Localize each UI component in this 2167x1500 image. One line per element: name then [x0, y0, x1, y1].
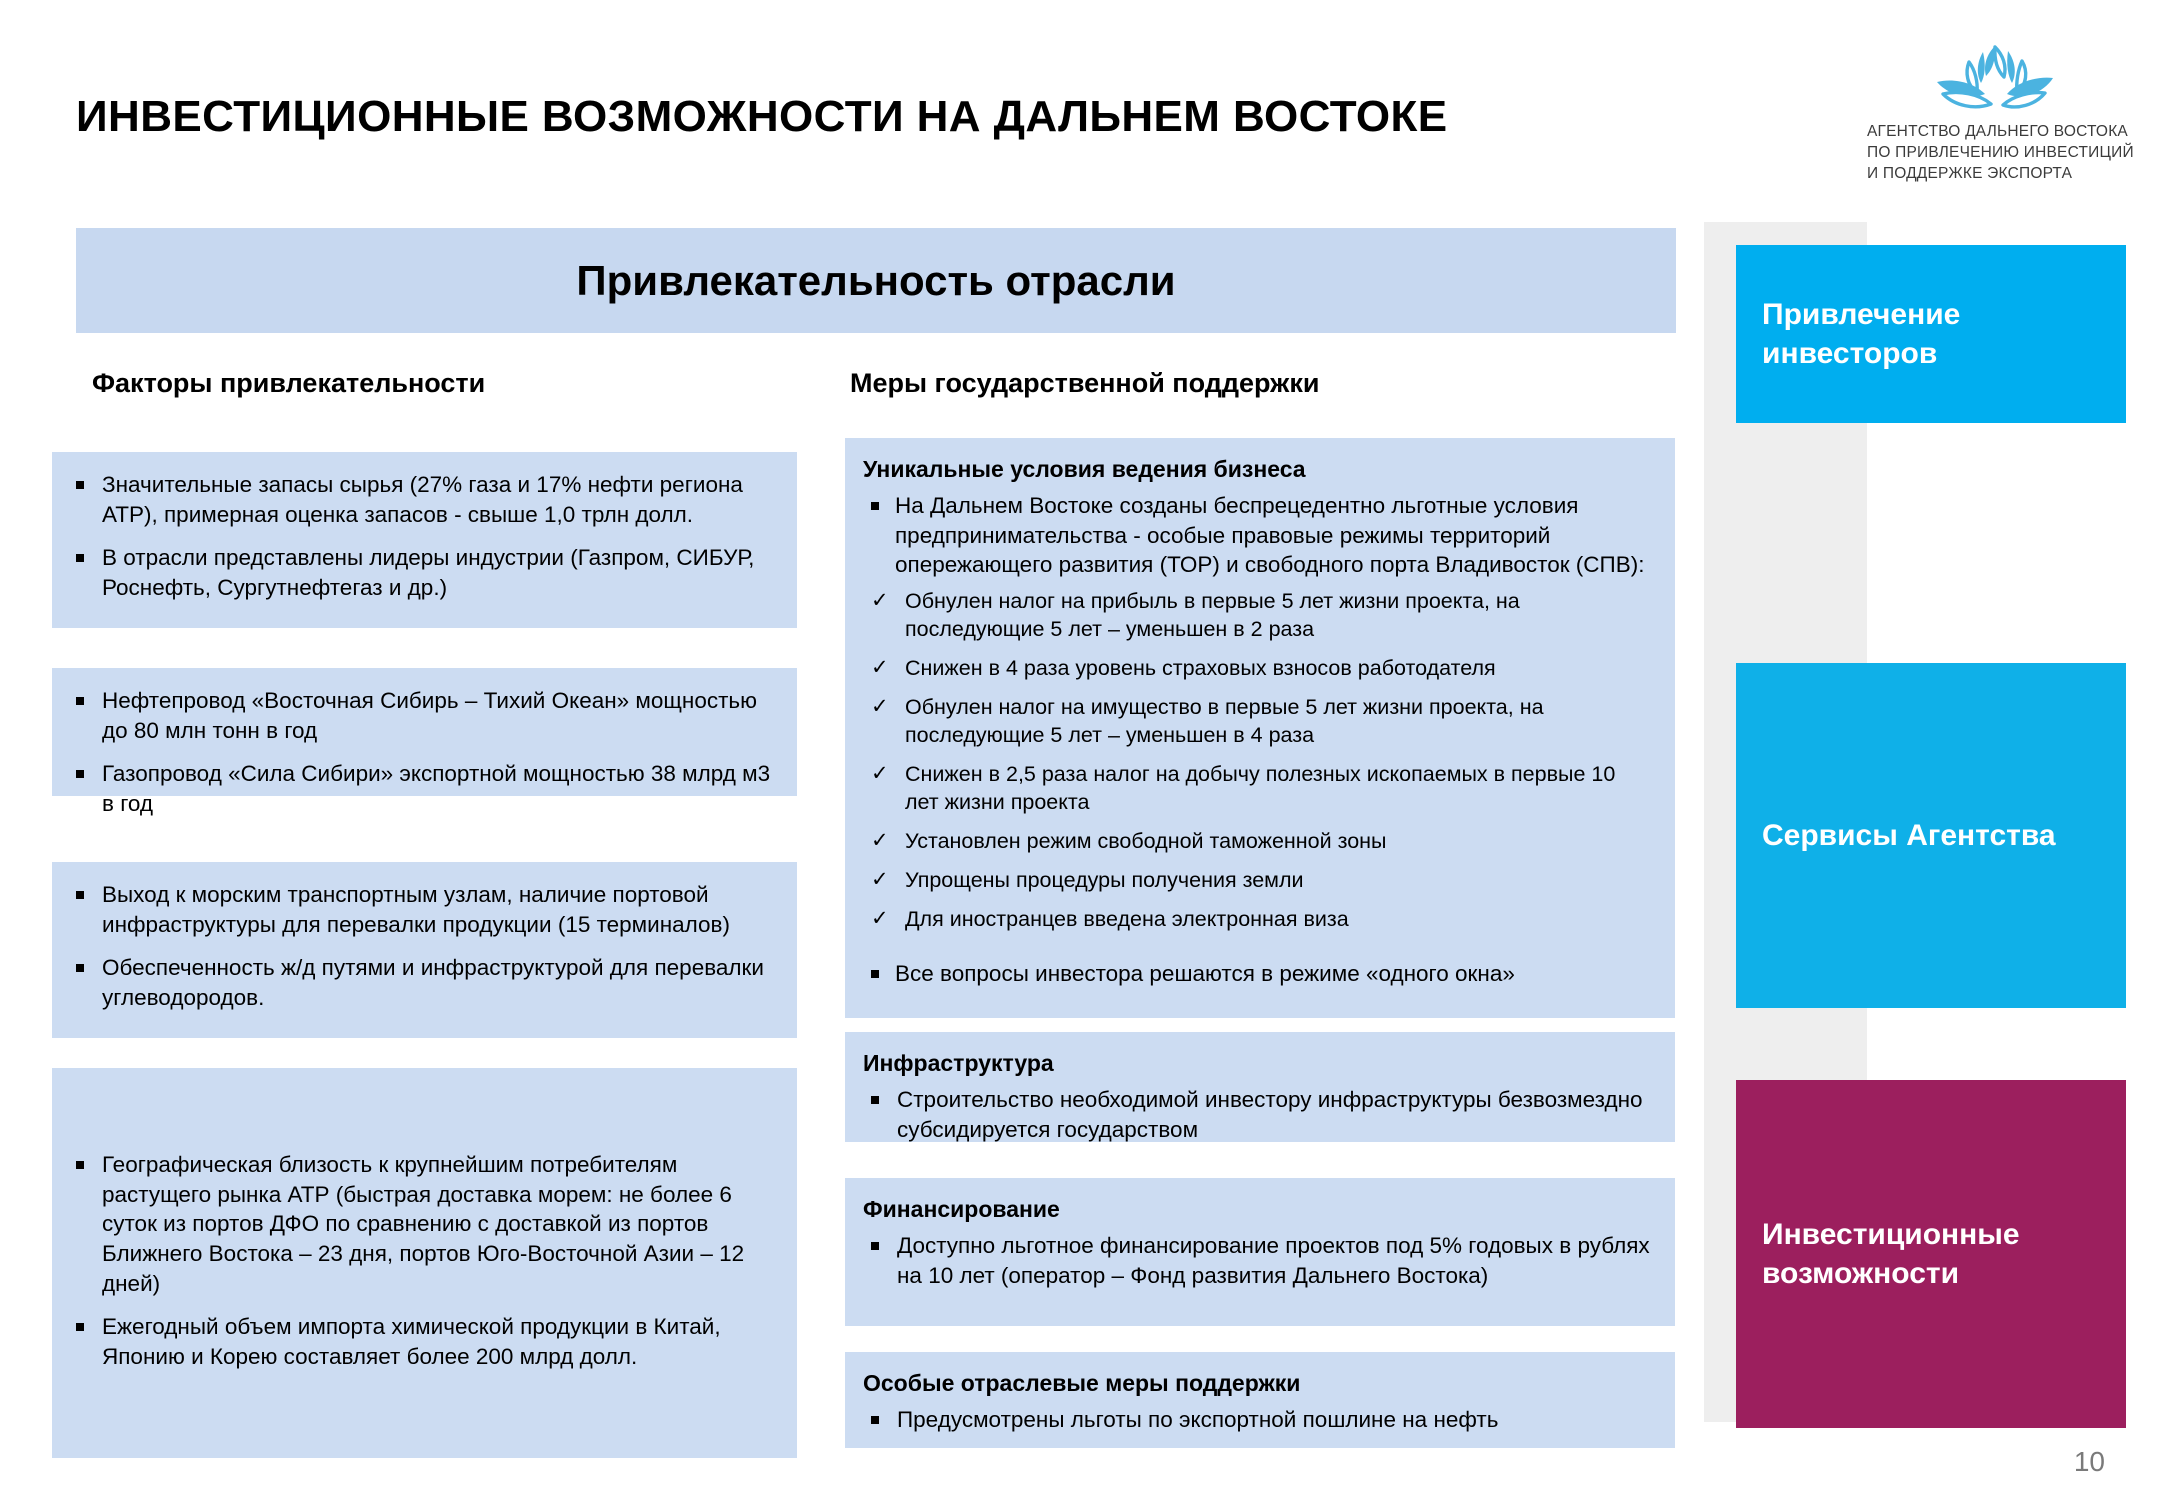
list-item: ✓Установлен режим свободной таможенной з… — [863, 828, 1653, 856]
list-item-text: Обнулен налог на имущество в первые 5 ле… — [905, 695, 1544, 747]
bullet-list: Предусмотрены льготы по экспортной пошли… — [863, 1405, 1653, 1435]
bullet-list: Выход к морским транспортным узлам, нали… — [68, 880, 773, 1013]
mid-column-heading: Меры государственной поддержки — [850, 368, 1319, 399]
bullet-square-icon — [871, 1242, 879, 1250]
card-title: Уникальные условия ведения бизнеса — [863, 456, 1653, 483]
card-financing: Финансирование Доступно льготное финанси… — [845, 1178, 1675, 1326]
check-icon: ✓ — [871, 654, 889, 681]
bullet-square-icon — [76, 891, 84, 899]
rail-tile-label: Инвестиционные возможности — [1762, 1215, 2100, 1293]
list-item-text: Для иностранцев введена электронная виза — [905, 907, 1349, 931]
lotus-bird-icon — [1925, 38, 2065, 116]
bullet-list: Географическая близость к крупнейшим пот… — [68, 1150, 773, 1372]
list-item: Выход к морским транспортным узлам, нали… — [68, 880, 773, 939]
list-item-text: Газопровод «Сила Сибири» экспортной мощн… — [102, 761, 770, 816]
bullet-square-icon — [871, 1416, 879, 1424]
bullet-square-icon — [871, 970, 879, 978]
card-sector-support: Особые отраслевые меры поддержки Предусм… — [845, 1352, 1675, 1448]
list-item-text: Обнулен налог на прибыль в первые 5 лет … — [905, 589, 1520, 641]
card-infrastructure: Инфраструктура Строительство необходимой… — [845, 1032, 1675, 1142]
list-item-text: Установлен режим свободной таможенной зо… — [905, 829, 1387, 853]
list-item: ✓Обнулен налог на прибыль в первые 5 лет… — [863, 588, 1653, 644]
bullet-square-icon — [76, 964, 84, 972]
card-geography: Географическая близость к крупнейшим пот… — [52, 1068, 797, 1458]
bullet-square-icon — [76, 1161, 84, 1169]
bullet-square-icon — [76, 1323, 84, 1331]
check-icon: ✓ — [871, 587, 889, 614]
list-item: ✓Упрощены процедуры получения земли — [863, 867, 1653, 895]
list-item-text: Выход к морским транспортным узлам, нали… — [102, 882, 730, 937]
list-item-text: Снижен в 4 раза уровень страховых взносо… — [905, 656, 1496, 680]
card-lead-text: На Дальнем Востоке созданы беспрецедентн… — [895, 493, 1644, 577]
list-item: ✓Обнулен налог на имущество в первые 5 л… — [863, 694, 1653, 750]
bullet-list: Строительство необходимой инвестору инфр… — [863, 1085, 1653, 1144]
check-icon: ✓ — [871, 866, 889, 893]
list-item: ✓Снижен в 2,5 раза налог на добычу полез… — [863, 761, 1653, 817]
check-icon: ✓ — [871, 905, 889, 932]
card-title: Инфраструктура — [863, 1050, 1653, 1077]
list-item-text: Доступно льготное финансирование проекто… — [897, 1233, 1650, 1288]
card-lead-bullet: На Дальнем Востоке созданы беспрецедентн… — [863, 491, 1653, 580]
card-resources: Значительные запасы сырья (27% газа и 17… — [52, 452, 797, 628]
card-tail-text: Все вопросы инвестора решаются в режиме … — [895, 961, 1515, 986]
bullet-list: Нефтепровод «Восточная Сибирь – Тихий Ок… — [68, 686, 773, 819]
list-item: Предусмотрены льготы по экспортной пошли… — [863, 1405, 1653, 1435]
card-title: Финансирование — [863, 1196, 1653, 1223]
list-item-text: Ежегодный объем импорта химической проду… — [102, 1314, 721, 1369]
agency-logo: АГЕНТСТВО ДАЛЬНЕГО ВОСТОКА ПО ПРИВЛЕЧЕНИ… — [1845, 38, 2145, 184]
list-item-text: Обеспеченность ж/д путями и инфраструкту… — [102, 955, 764, 1010]
bullet-square-icon — [76, 697, 84, 705]
rail-tile-services[interactable]: Сервисы Агентства — [1736, 663, 2126, 1008]
bullet-square-icon — [76, 481, 84, 489]
list-item: Значительные запасы сырья (27% газа и 17… — [68, 470, 773, 529]
list-item-text: Снижен в 2,5 раза налог на добычу полезн… — [905, 762, 1615, 814]
page-title: ИНВЕСТИЦИОННЫЕ ВОЗМОЖНОСТИ НА ДАЛЬНЕМ ВО… — [76, 92, 1448, 142]
card-logistics: Выход к морским транспортным узлам, нали… — [52, 862, 797, 1038]
check-icon: ✓ — [871, 760, 889, 787]
list-item-text: Значительные запасы сырья (27% газа и 17… — [102, 472, 743, 527]
list-item: Географическая близость к крупнейшим пот… — [68, 1150, 773, 1298]
rail-tile-label: Привлечение инвесторов — [1762, 295, 2100, 373]
list-item-text: Предусмотрены льготы по экспортной пошли… — [897, 1407, 1498, 1432]
list-item: В отрасли представлены лидеры индустрии … — [68, 543, 773, 602]
bullet-square-icon — [76, 554, 84, 562]
card-pipelines: Нефтепровод «Восточная Сибирь – Тихий Ок… — [52, 668, 797, 796]
list-item: Нефтепровод «Восточная Сибирь – Тихий Ок… — [68, 686, 773, 745]
list-item: Доступно льготное финансирование проекто… — [863, 1231, 1653, 1290]
left-column-heading: Факторы привлекательности — [92, 368, 485, 399]
bullet-list: Значительные запасы сырья (27% газа и 17… — [68, 470, 773, 603]
logo-text-line-2: ПО ПРИВЛЕЧЕНИЮ ИНВЕСТИЦИЙ — [1867, 143, 2145, 164]
bullet-square-icon — [76, 770, 84, 778]
list-item: ✓Снижен в 4 раза уровень страховых взнос… — [863, 655, 1653, 683]
list-item: Строительство необходимой инвестору инфр… — [863, 1085, 1653, 1144]
list-item-text: Нефтепровод «Восточная Сибирь – Тихий Ок… — [102, 688, 757, 743]
check-icon: ✓ — [871, 693, 889, 720]
bullet-square-icon — [871, 1096, 879, 1104]
check-icon: ✓ — [871, 827, 889, 854]
list-item-text: В отрасли представлены лидеры индустрии … — [102, 545, 754, 600]
logo-text-line-3: И ПОДДЕРЖКЕ ЭКСПОРТА — [1867, 164, 2145, 185]
page-number: 10 — [2074, 1446, 2105, 1478]
bullet-list: Доступно льготное финансирование проекто… — [863, 1231, 1653, 1290]
list-item: Обеспеченность ж/д путями и инфраструкту… — [68, 953, 773, 1012]
card-title: Особые отраслевые меры поддержки — [863, 1370, 1653, 1397]
card-unique-business-conditions: Уникальные условия ведения бизнеса На Да… — [845, 438, 1675, 1018]
logo-text-line-1: АГЕНТСТВО ДАЛЬНЕГО ВОСТОКА — [1867, 122, 2145, 143]
section-banner: Привлекательность отрасли — [76, 228, 1676, 333]
list-item: ✓Для иностранцев введена электронная виз… — [863, 906, 1653, 934]
section-banner-title: Привлекательность отрасли — [576, 257, 1175, 305]
list-item-text: Строительство необходимой инвестору инфр… — [897, 1087, 1643, 1142]
list-item-text: Географическая близость к крупнейшим пот… — [102, 1152, 744, 1296]
bullet-square-icon — [871, 502, 879, 510]
list-item-text: Упрощены процедуры получения земли — [905, 868, 1304, 892]
check-list: ✓Обнулен налог на прибыль в первые 5 лет… — [863, 588, 1653, 933]
list-item: Газопровод «Сила Сибири» экспортной мощн… — [68, 759, 773, 818]
card-tail-bullet: Все вопросы инвестора решаются в режиме … — [863, 959, 1653, 989]
rail-tile-investors[interactable]: Привлечение инвесторов — [1736, 245, 2126, 423]
rail-tile-opportunities[interactable]: Инвестиционные возможности — [1736, 1080, 2126, 1428]
rail-tile-label: Сервисы Агентства — [1762, 816, 2056, 855]
list-item: Ежегодный объем импорта химической проду… — [68, 1312, 773, 1371]
